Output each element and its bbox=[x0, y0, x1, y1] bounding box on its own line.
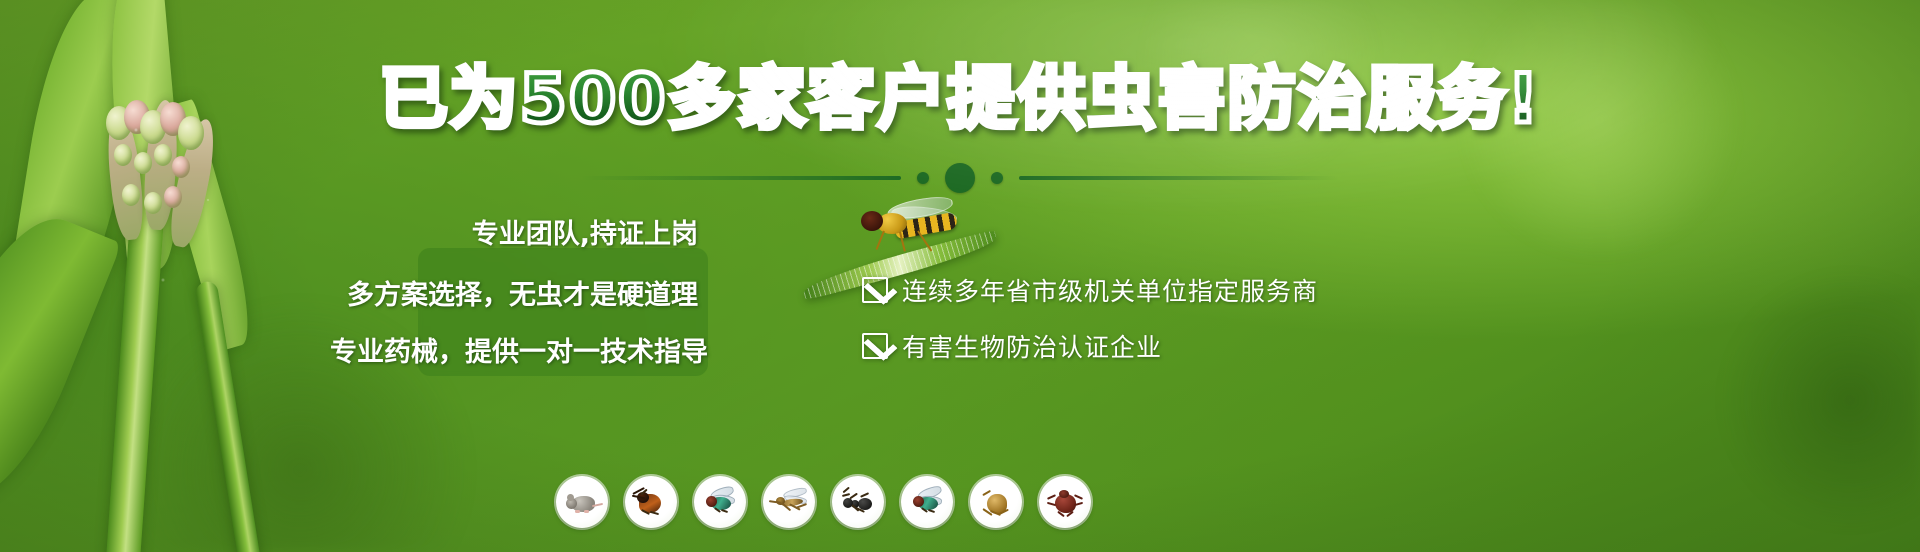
divider-dot-small bbox=[991, 172, 1003, 184]
flea-icon[interactable] bbox=[970, 476, 1022, 528]
decorative-divider bbox=[0, 163, 1920, 193]
pest-control-hero-banner: 已为500多家客户提供虫害防治服务! 专业团队,持证上岗 多方案选择，无虫才是硬… bbox=[0, 0, 1920, 552]
mosquito-icon[interactable] bbox=[763, 476, 815, 528]
divider-rule-right bbox=[1019, 176, 1339, 180]
divider-rule-left bbox=[581, 176, 901, 180]
bedbug-icon[interactable] bbox=[1039, 476, 1091, 528]
headline-container: 已为500多家客户提供虫害防治服务! bbox=[0, 66, 1920, 134]
selling-points-text: 专业团队,持证上岗 多方案选择，无虫才是硬道理 专业药械，提供一对一技术指导 bbox=[330, 212, 720, 369]
housefly-icon[interactable] bbox=[901, 476, 953, 528]
checklist-item: 有害生物防治认证企业 bbox=[862, 328, 1318, 364]
checklist-item-label: 连续多年省市级机关单位指定服务商 bbox=[902, 272, 1318, 308]
checklist-item: 连续多年省市级机关单位指定服务商 bbox=[862, 272, 1318, 308]
mouse-icon[interactable] bbox=[556, 476, 608, 528]
checklist-item-label: 有害生物防治认证企业 bbox=[902, 328, 1162, 364]
credentials-checklist: 连续多年省市级机关单位指定服务商 有害生物防治认证企业 bbox=[862, 272, 1318, 384]
cockroach-icon[interactable] bbox=[625, 476, 677, 528]
checkbox-checked-icon bbox=[862, 333, 888, 359]
divider-dot-large bbox=[945, 163, 975, 193]
banner-headline: 已为500多家客户提供虫害防治服务! bbox=[380, 66, 1541, 134]
fly-icon[interactable] bbox=[694, 476, 746, 528]
pest-icon-row bbox=[556, 476, 1091, 528]
ant-icon[interactable] bbox=[832, 476, 884, 528]
hoverfly-icon bbox=[855, 195, 960, 257]
selling-point-line-3: 专业药械，提供一对一技术指导 bbox=[330, 330, 698, 369]
selling-point-line-1: 专业团队,持证上岗 bbox=[330, 212, 698, 251]
checkbox-checked-icon bbox=[862, 277, 888, 303]
selling-point-line-2: 多方案选择，无虫才是硬道理 bbox=[330, 273, 698, 312]
divider-dot-small bbox=[917, 172, 929, 184]
